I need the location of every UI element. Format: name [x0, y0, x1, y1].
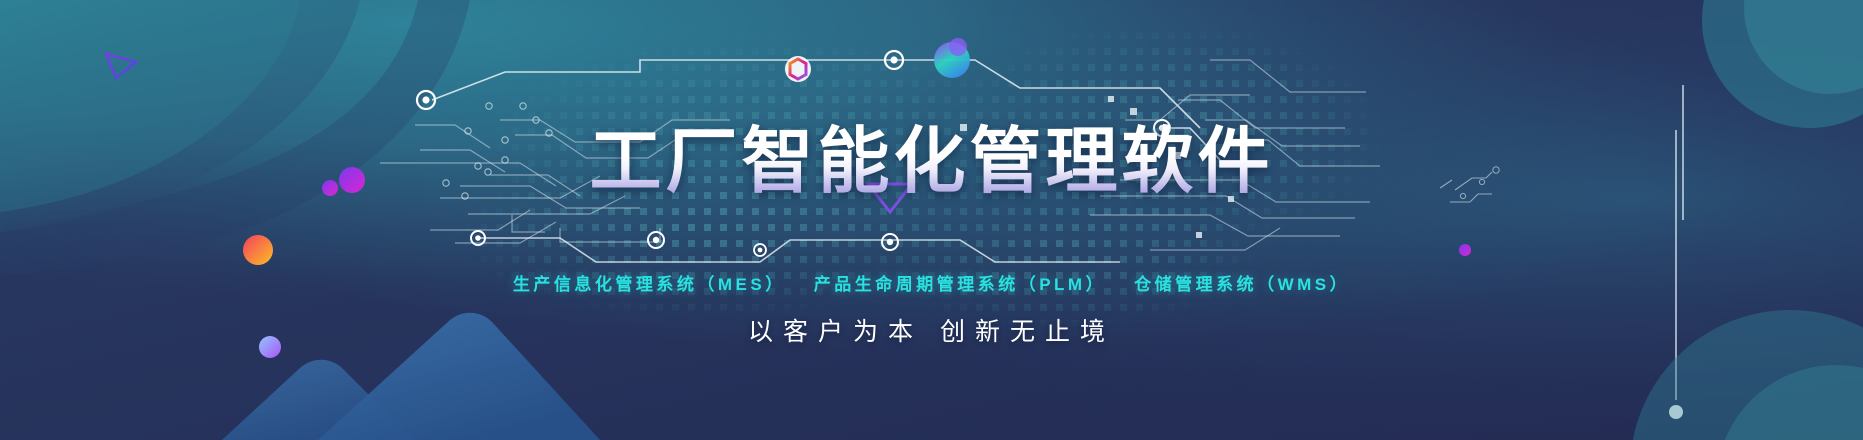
ring-node-left	[417, 91, 435, 109]
sphere-gradient-top	[934, 38, 970, 78]
page-title: 工厂智能化管理软件	[589, 122, 1273, 202]
dot-magenta-right	[1459, 244, 1471, 256]
triangle-outline-top-left	[106, 54, 136, 78]
dot-violet	[259, 336, 281, 358]
mountain-wave-bottom-left	[222, 313, 600, 440]
product-item-mes: 生产信息化管理系统（MES）	[513, 270, 786, 295]
hero-banner: 工厂智能化管理软件 生产信息化管理系统（MES） 产品生命周期管理系统（PLM）…	[0, 0, 1863, 440]
ring-node-small-d	[882, 234, 898, 250]
corner-circle-bottom-right	[1630, 310, 1863, 440]
hex-node-icon	[785, 56, 811, 82]
ring-node-small-c	[648, 232, 664, 248]
ring-node-small-b	[471, 231, 485, 245]
ring-node-right	[885, 51, 903, 69]
product-list: 生产信息化管理系统（MES） 产品生命周期管理系统（PLM） 仓储管理系统（WM…	[513, 270, 1350, 295]
decoration-layer	[0, 0, 1863, 440]
ring-node-small-e	[754, 244, 766, 256]
dot-orange	[243, 235, 273, 265]
product-item-wms: 仓储管理系统（WMS）	[1134, 270, 1350, 295]
tagline: 以客户为本 创新无止境	[748, 312, 1115, 348]
corner-circle-top-right	[1702, 0, 1863, 128]
product-item-plm: 产品生命周期管理系统（PLM）	[814, 270, 1106, 295]
blob-magenta-left	[322, 167, 365, 196]
